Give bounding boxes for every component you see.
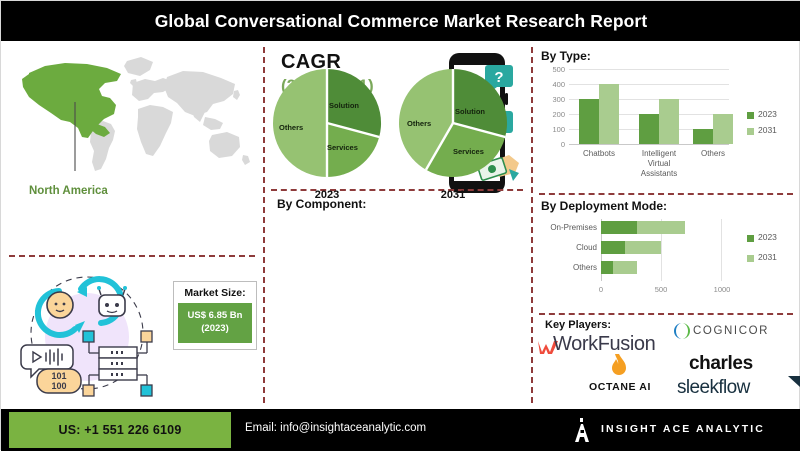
by-type-bar-others-2031	[713, 114, 733, 144]
world-map-svg	[7, 47, 257, 187]
robot-eye-left	[105, 303, 109, 307]
by-component-charts: Solution Services Others 2023	[267, 65, 519, 215]
by-deployment-legend-swatch-2023	[747, 235, 754, 242]
human-eye-left	[55, 303, 58, 306]
by-deployment-xtick-1000: 1000	[709, 285, 735, 294]
by-deployment-bar-cloud-2023	[601, 241, 625, 254]
by-deployment-bar-cloud-2031	[625, 241, 661, 254]
illustration-svg: 101 100	[15, 269, 165, 399]
human-eye-right	[63, 303, 66, 306]
by-deployment-category-others: Others	[541, 263, 597, 272]
by-type-bar-iva-2031	[659, 99, 679, 144]
by-type-ytick-400: 400	[541, 80, 565, 89]
by-deployment-category-cloud: Cloud	[541, 243, 597, 252]
by-type-legend-swatch-2031	[747, 128, 754, 135]
by-type-ytick-0: 0	[541, 140, 565, 149]
key-player-charles: charles	[689, 353, 753, 375]
key-player-cognicor: COGNICOR	[693, 325, 769, 337]
robot-antenna-dot-left	[97, 286, 101, 290]
header-bar: Global Conversational Commerce Market Re…	[1, 1, 800, 41]
divider-horizontal-right-1	[539, 193, 793, 195]
right-column: By Type: 500 400 300 200 100 0	[531, 41, 800, 409]
by-type-legend-label-2023: 2023	[758, 109, 777, 119]
by-type-chart: 500 400 300 200 100 0	[541, 69, 797, 195]
market-size-value: US$ 6.85 Bn	[180, 310, 250, 323]
region-label: North America	[29, 185, 108, 197]
conversational-ai-illustration: 101 100	[15, 269, 165, 399]
by-deployment-legend-label-2023: 2023	[758, 232, 777, 242]
by-deployment-title: By Deployment Mode:	[541, 199, 797, 213]
key-players-section: Key Players: WorkFusion COGNICOR OCTANE …	[541, 319, 800, 407]
by-deployment-category-on-premises: On-Premises	[541, 223, 597, 232]
left-column: North America	[1, 41, 263, 409]
by-deployment-bar-on-premises-2031	[637, 221, 685, 234]
by-deployment-bar-others-2031	[613, 261, 637, 274]
node-a	[83, 331, 94, 342]
pie-2031-label-services: Services	[453, 147, 484, 156]
by-type-category-iva: Intelligent Virtual Assistants	[633, 149, 685, 179]
page-title: Global Conversational Commerce Market Re…	[155, 11, 648, 32]
infographic-frame: Global Conversational Commerce Market Re…	[0, 0, 800, 450]
by-deployment-xtick-0: 0	[591, 285, 611, 294]
server-icon	[99, 347, 137, 380]
node-c	[83, 385, 94, 396]
node-d	[141, 385, 152, 396]
infographic-body: North America	[1, 41, 800, 409]
by-type-gridline-400	[569, 84, 729, 85]
pie-2023-caption: 2023	[292, 189, 362, 201]
sleekflow-icon	[787, 375, 800, 389]
by-type-section: By Type: 500 400 300 200 100 0	[541, 49, 797, 197]
pie-2023-label-solution: Solution	[329, 101, 359, 110]
by-type-title: By Type:	[541, 49, 797, 63]
key-player-sleekflow: sleekflow	[677, 377, 750, 399]
pie-2023-label-services: Services	[327, 143, 358, 152]
middle-column: CAGR (2024-2031) 15.1%	[263, 41, 531, 409]
binary-top: 101	[51, 371, 66, 381]
by-type-ytick-500: 500	[541, 65, 565, 74]
pie-2023-label-others: Others	[279, 123, 303, 132]
market-size-year: (2023)	[180, 323, 250, 336]
footer-brand: INSIGHT ACE ANALYTIC	[601, 423, 765, 435]
by-type-legend-swatch-2023	[747, 112, 754, 119]
pie-2031-caption: 2031	[418, 189, 488, 201]
cognicor-icon	[673, 322, 691, 340]
key-players-title: Key Players:	[545, 319, 611, 331]
by-deployment-xtick-500: 500	[651, 285, 671, 294]
by-type-gridline-500	[569, 69, 729, 70]
by-type-bar-iva-2023	[639, 114, 659, 144]
node-b	[141, 331, 152, 342]
by-type-ytick-100: 100	[541, 125, 565, 134]
insight-ace-logo-icon	[571, 418, 593, 444]
by-type-category-others: Others	[689, 149, 737, 159]
robot-antenna-dot-right	[123, 286, 127, 290]
by-deployment-chart: On-Premises Cloud Others 0	[541, 219, 797, 311]
by-type-ytick-300: 300	[541, 95, 565, 104]
footer-bar: US: +1 551 226 6109 Email: info@insighta…	[1, 409, 800, 451]
world-map	[7, 47, 257, 187]
market-size-value-box: US$ 6.85 Bn (2023)	[178, 303, 252, 343]
divider-horizontal-left	[9, 255, 255, 257]
by-type-axis-line	[569, 144, 729, 145]
divider-horizontal-right-2	[539, 313, 793, 315]
by-type-bar-others-2023	[693, 129, 713, 144]
market-size-title: Market Size:	[178, 287, 252, 299]
by-type-bar-chatbots-2023	[579, 99, 599, 144]
market-size-box: Market Size: US$ 6.85 Bn (2023)	[173, 281, 257, 350]
footer-email[interactable]: Email: info@insightaceanalytic.com	[245, 422, 426, 434]
by-deployment-gridline-1000	[721, 219, 722, 281]
footer-phone[interactable]: US: +1 551 226 6109	[9, 412, 231, 448]
by-type-legend-label-2031: 2031	[758, 125, 777, 135]
binary-bottom: 100	[51, 381, 66, 391]
by-deployment-bar-on-premises-2023	[601, 221, 637, 234]
by-type-category-chatbots: Chatbots	[571, 149, 627, 159]
by-deployment-legend-label-2031: 2031	[758, 252, 777, 262]
octane-ai-flame-icon	[609, 353, 629, 379]
human-head-icon	[47, 292, 73, 318]
pie-2031-label-others: Others	[407, 119, 431, 128]
by-deployment-bar-others-2023	[601, 261, 613, 274]
by-type-bar-chatbots-2031	[599, 84, 619, 144]
key-player-octane-ai: OCTANE AI	[589, 381, 651, 393]
by-deployment-legend-swatch-2031	[747, 255, 754, 262]
pie-2031-label-solution: Solution	[455, 107, 485, 116]
by-deployment-section: By Deployment Mode: On-Premises Cloud Ot…	[541, 199, 797, 317]
by-type-ytick-200: 200	[541, 110, 565, 119]
key-player-workfusion: WorkFusion	[553, 333, 655, 356]
robot-eye-right	[115, 303, 119, 307]
